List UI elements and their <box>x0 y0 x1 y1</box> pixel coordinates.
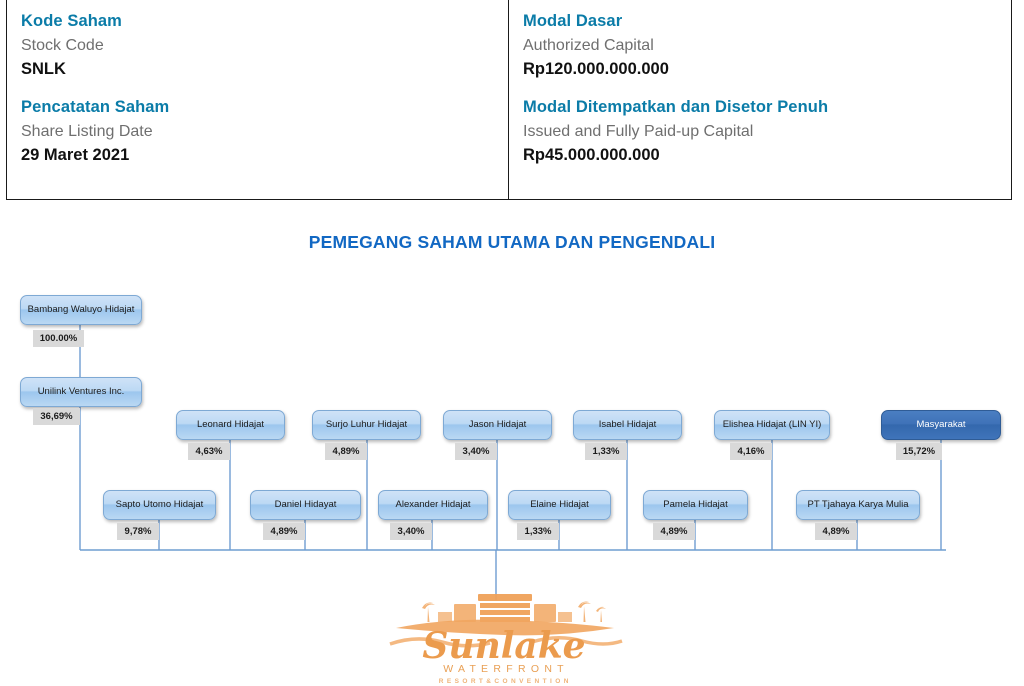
node-label: Elaine Hidajat <box>530 500 589 510</box>
node-unilink-ventures-inc[interactable]: Unilink Ventures Inc. <box>20 377 142 407</box>
pct-surjo-luhur-hidajat: 4,89% <box>325 443 367 460</box>
node-label: Sapto Utomo Hidajat <box>116 500 204 510</box>
pct-isabel-hidajat: 1,33% <box>585 443 627 460</box>
node-label: Jason Hidajat <box>469 420 527 430</box>
sunlake-logo-graphic: Sunlake W A T E R F R O N T R E S O R T … <box>382 578 627 686</box>
logo-tagline-2: R E S O R T & C O N V E N T I O N <box>439 678 569 685</box>
node-label: Leonard Hidajat <box>197 420 264 430</box>
node-isabel-hidajat[interactable]: Isabel Hidajat <box>573 410 682 440</box>
pct-value: 100.00% <box>40 333 78 344</box>
node-label: Unilink Ventures Inc. <box>38 387 125 397</box>
pct-value: 1,33% <box>525 526 552 537</box>
pct-masyarakat: 15,72% <box>896 443 942 460</box>
node-label: Bambang Waluyo Hidajat <box>28 305 135 315</box>
pct-leonard-hidajat: 4,63% <box>188 443 230 460</box>
pct-value: 3,40% <box>398 526 425 537</box>
node-label: Alexander Hidajat <box>396 500 471 510</box>
pct-bambang-waluyo-hidajat: 100.00% <box>33 330 84 347</box>
pct-value: 4,89% <box>823 526 850 537</box>
node-label: PT Tjahaya Karya Mulia <box>807 500 908 510</box>
pct-elishea-hidajat-lin-yi: 4,16% <box>730 443 772 460</box>
pct-value: 4,16% <box>738 446 765 457</box>
pct-value: 4,89% <box>271 526 298 537</box>
node-pamela-hidajat[interactable]: Pamela Hidajat <box>643 490 748 520</box>
pct-value: 1,33% <box>593 446 620 457</box>
node-pt-tjahaya-karya-mulia[interactable]: PT Tjahaya Karya Mulia <box>796 490 920 520</box>
pct-pt-tjahaya-karya-mulia: 4,89% <box>815 523 857 540</box>
node-jason-hidajat[interactable]: Jason Hidajat <box>443 410 552 440</box>
pct-daniel-hidayat: 4,89% <box>263 523 305 540</box>
node-label: Masyarakat <box>916 420 965 430</box>
logo-wordmark: Sunlake <box>422 625 585 667</box>
resort-building-icon <box>438 594 572 622</box>
node-masyarakat[interactable]: Masyarakat <box>881 410 1001 440</box>
pct-value: 4,63% <box>196 446 223 457</box>
node-elishea-hidajat-lin-yi[interactable]: Elishea Hidajat (LIN YI) <box>714 410 830 440</box>
node-label: Elishea Hidajat (LIN YI) <box>723 420 822 430</box>
pct-value: 36,69% <box>40 411 72 422</box>
pct-value: 15,72% <box>903 446 935 457</box>
node-alexander-hidajat[interactable]: Alexander Hidajat <box>378 490 488 520</box>
node-label: Pamela Hidajat <box>663 500 727 510</box>
node-label: Daniel Hidayat <box>275 500 337 510</box>
pct-value: 4,89% <box>661 526 688 537</box>
pct-sapto-utomo-hidajat: 9,78% <box>117 523 159 540</box>
node-sapto-utomo-hidajat[interactable]: Sapto Utomo Hidajat <box>103 490 216 520</box>
node-bambang-waluyo-hidajat[interactable]: Bambang Waluyo Hidajat <box>20 295 142 325</box>
logo-tagline-1: W A T E R F R O N T <box>443 663 564 675</box>
node-label: Surjo Luhur Hidajat <box>326 420 407 430</box>
pct-unilink-ventures-inc: 36,69% <box>33 408 80 425</box>
pct-value: 9,78% <box>125 526 152 537</box>
node-elaine-hidajat[interactable]: Elaine Hidajat <box>508 490 611 520</box>
sunlake-logo: Sunlake W A T E R F R O N T R E S O R T … <box>382 578 627 686</box>
node-leonard-hidajat[interactable]: Leonard Hidajat <box>176 410 285 440</box>
pct-value: 3,40% <box>463 446 490 457</box>
node-daniel-hidayat[interactable]: Daniel Hidayat <box>250 490 361 520</box>
pct-jason-hidajat: 3,40% <box>455 443 497 460</box>
pct-alexander-hidajat: 3,40% <box>390 523 432 540</box>
pct-pamela-hidajat: 4,89% <box>653 523 695 540</box>
node-surjo-luhur-hidajat[interactable]: Surjo Luhur Hidajat <box>312 410 421 440</box>
pct-elaine-hidajat: 1,33% <box>517 523 559 540</box>
pct-value: 4,89% <box>333 446 360 457</box>
node-label: Isabel Hidajat <box>599 420 657 430</box>
